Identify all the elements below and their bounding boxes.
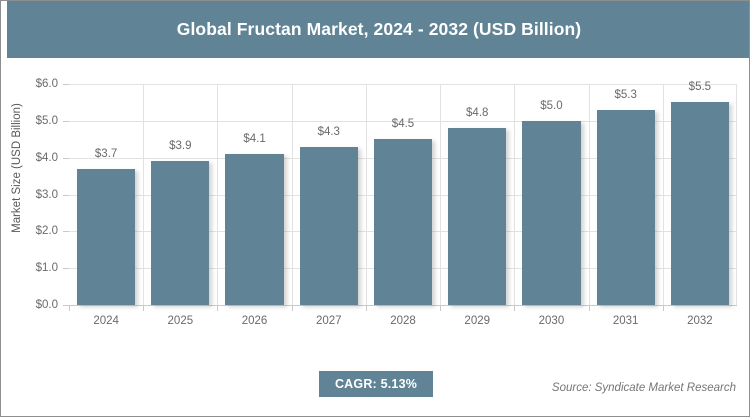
category-separator xyxy=(589,84,590,305)
chart-title-banner: Global Fructan Market, 2024 - 2032 (USD … xyxy=(7,1,750,58)
y-tick-label: $1.0 xyxy=(36,262,58,274)
y-tick-label: $5.0 xyxy=(36,115,58,127)
bar-2032[interactable] xyxy=(671,102,729,305)
x-tick-label: 2028 xyxy=(390,315,416,327)
y-axis-tick xyxy=(63,195,69,196)
category-separator xyxy=(663,84,664,305)
bar-value-label: $4.8 xyxy=(466,107,488,119)
x-tick-label: 2025 xyxy=(168,315,194,327)
x-axis-tick xyxy=(292,305,293,311)
category-separator xyxy=(366,84,367,305)
cagr-badge: CAGR: 5.13% xyxy=(319,371,433,397)
y-axis-tick xyxy=(63,84,69,85)
category-separator xyxy=(514,84,515,305)
x-tick-label: 2027 xyxy=(316,315,342,327)
y-tick-label: $2.0 xyxy=(36,225,58,237)
y-axis-title: Market Size (USD Billion) xyxy=(11,78,23,258)
x-tick-label: 2030 xyxy=(539,315,565,327)
y-tick-label: $0.0 xyxy=(36,299,58,311)
y-tick-label: $6.0 xyxy=(36,78,58,90)
bar-2025[interactable] xyxy=(151,161,209,305)
x-axis-tick xyxy=(143,305,144,311)
x-tick-label: 2031 xyxy=(613,315,639,327)
page-title: Global Fructan Market, 2024 - 2032 (USD … xyxy=(177,19,582,40)
x-axis-tick xyxy=(69,305,70,311)
y-tick-label: $4.0 xyxy=(36,152,58,164)
y-gridline xyxy=(69,305,737,306)
category-separator xyxy=(292,84,293,305)
category-separator xyxy=(217,84,218,305)
bar-value-label: $4.5 xyxy=(392,118,414,130)
bar-2028[interactable] xyxy=(374,139,432,305)
category-separator xyxy=(440,84,441,305)
y-tick-label: $3.0 xyxy=(36,189,58,201)
bar-value-label: $5.3 xyxy=(614,89,636,101)
x-axis-tick xyxy=(217,305,218,311)
x-axis-tick xyxy=(366,305,367,311)
plot-wrapper: Market Size (USD Billion) $0.0$1.0$2.0$3… xyxy=(1,58,750,348)
bar-value-label: $4.1 xyxy=(243,133,265,145)
chart-card: Global Fructan Market, 2024 - 2032 (USD … xyxy=(0,0,750,417)
bar-2027[interactable] xyxy=(300,147,358,305)
x-tick-label: 2024 xyxy=(93,315,119,327)
x-axis-tick xyxy=(514,305,515,311)
y-axis-tick xyxy=(63,268,69,269)
bar-2024[interactable] xyxy=(77,169,135,305)
y-axis-tick xyxy=(63,158,69,159)
x-tick-label: 2029 xyxy=(464,315,490,327)
y-axis-tick xyxy=(63,231,69,232)
category-separator xyxy=(143,84,144,305)
plot-area: $0.0$1.0$2.0$3.0$4.0$5.0$6.0$3.72024$3.9… xyxy=(69,84,737,305)
bar-value-label: $4.3 xyxy=(318,126,340,138)
x-axis-tick xyxy=(663,305,664,311)
bar-2026[interactable] xyxy=(225,154,283,305)
y-gridline xyxy=(69,84,737,85)
y-axis-tick xyxy=(63,121,69,122)
source-note: Source: Syndicate Market Research xyxy=(552,382,736,394)
bar-2029[interactable] xyxy=(448,128,506,305)
bar-value-label: $5.0 xyxy=(540,100,562,112)
x-axis-tick xyxy=(589,305,590,311)
plot-right-edge xyxy=(736,84,737,305)
bar-2030[interactable] xyxy=(522,121,580,305)
bar-value-label: $5.5 xyxy=(689,81,711,93)
bar-2031[interactable] xyxy=(597,110,655,305)
bar-value-label: $3.9 xyxy=(169,140,191,152)
x-axis-tick xyxy=(440,305,441,311)
x-tick-label: 2032 xyxy=(687,315,713,327)
x-tick-label: 2026 xyxy=(242,315,268,327)
bar-value-label: $3.7 xyxy=(95,148,117,160)
